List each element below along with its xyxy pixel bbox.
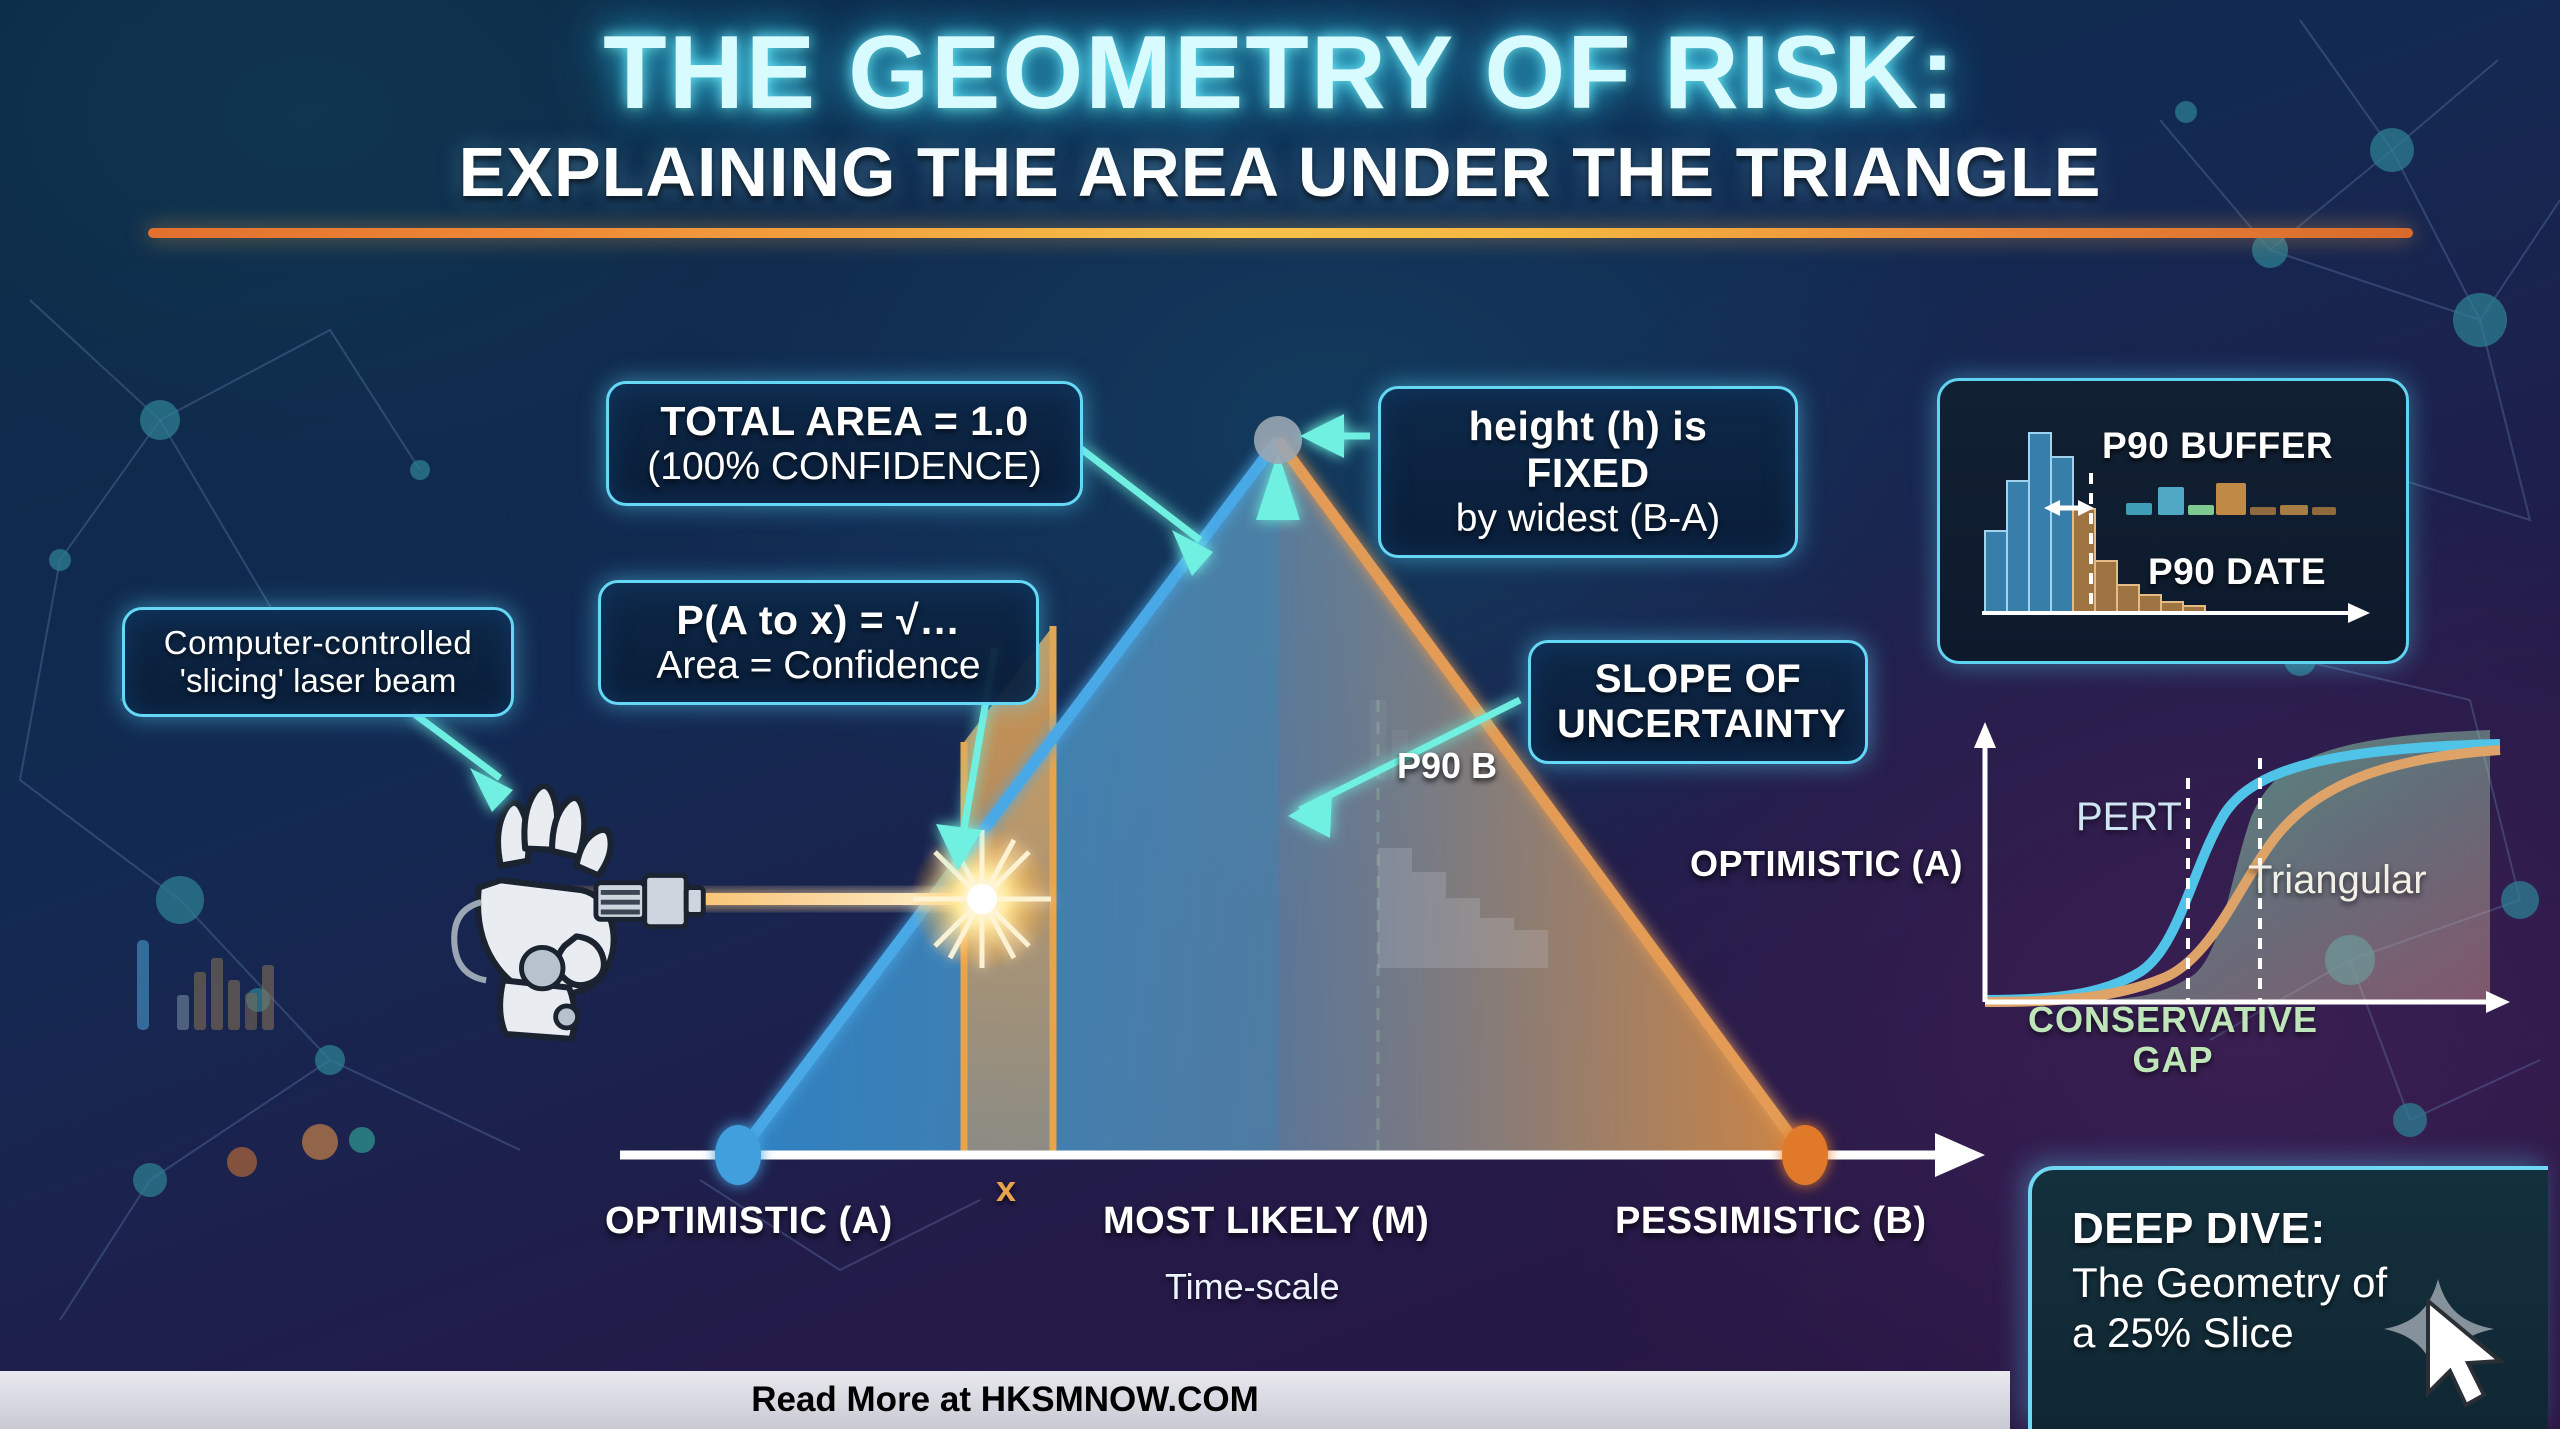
deep-dive-card[interactable]: DEEP DIVE: The Geometry of a 25% Slice bbox=[2028, 1166, 2548, 1429]
mouse-cursor-icon bbox=[2376, 1261, 2526, 1411]
p90-panel: P90 BUFFER P90 DATE bbox=[1937, 378, 2409, 664]
p90-legend-bars bbox=[2126, 483, 2336, 515]
axis-label-pessimistic: PESSIMISTIC (B) bbox=[1615, 1200, 1927, 1243]
p90-buffer-label: P90 BUFFER bbox=[2102, 425, 2333, 467]
axis-label-x: x bbox=[996, 1168, 1016, 1210]
cdf-optimistic-label: OPTIMISTIC (A) bbox=[1690, 843, 1963, 885]
p90-date-label: P90 DATE bbox=[2148, 551, 2326, 593]
callout-total-area-line1: TOTAL AREA = 1.0 bbox=[635, 398, 1054, 445]
callout-laser-line2: 'slicing' laser beam bbox=[151, 662, 485, 700]
conservative-gap-label: CONSERVATIVE GAP bbox=[1963, 1000, 2383, 1079]
footer-text: Read More at HKSMNOW.COM bbox=[751, 1380, 1259, 1420]
deep-dive-subtitle-line1: The Geometry of bbox=[2072, 1259, 2387, 1306]
callout-slope-line2: UNCERTAINTY bbox=[1557, 702, 1839, 747]
robot-hand-icon bbox=[454, 786, 703, 1039]
axis-caption: Time-scale bbox=[1165, 1266, 1340, 1308]
infographic-canvas: THE GEOMETRY OF RISK: EXPLAINING THE ARE… bbox=[0, 0, 2560, 1429]
callout-laser-line1: Computer-controlled bbox=[151, 624, 485, 662]
callout-probability-formula: P(A to x) = √… bbox=[627, 597, 1010, 644]
callout-height-line2: by widest (B-A) bbox=[1407, 497, 1769, 541]
pert-label: PERT bbox=[2076, 795, 2182, 840]
p90-bars-before bbox=[1985, 433, 2073, 613]
axis-label-optimistic: OPTIMISTIC (A) bbox=[605, 1200, 893, 1243]
callout-height-line1: height (h) is FIXED bbox=[1407, 403, 1769, 497]
deep-dive-title: DEEP DIVE: bbox=[2072, 1204, 2548, 1254]
callout-height-fixed: height (h) is FIXED by widest (B-A) bbox=[1378, 386, 1798, 558]
callout-probability: P(A to x) = √… Area = Confidence bbox=[598, 580, 1039, 705]
axis-label-most-likely: MOST LIKELY (M) bbox=[1103, 1200, 1429, 1243]
callout-slope-line1: SLOPE OF bbox=[1557, 657, 1839, 702]
conservative-gap-line2: GAP bbox=[2132, 1039, 2213, 1080]
callout-laser: Computer-controlled 'slicing' laser beam bbox=[122, 607, 514, 717]
p90-b-label: P90 B bbox=[1397, 745, 1497, 787]
callout-total-area-line2: (100% CONFIDENCE) bbox=[635, 445, 1054, 489]
callout-slope-uncertainty: SLOPE OF UNCERTAINTY bbox=[1528, 640, 1868, 764]
footer-bar: Read More at HKSMNOW.COM bbox=[0, 1371, 2010, 1429]
p90-histogram bbox=[1940, 381, 2412, 667]
deep-dive-subtitle-line2: a 25% Slice bbox=[2072, 1309, 2294, 1356]
callout-probability-caption: Area = Confidence bbox=[627, 644, 1010, 688]
conservative-gap-line1: CONSERVATIVE bbox=[2028, 999, 2318, 1040]
triangular-label: Triangular bbox=[2248, 858, 2427, 903]
callout-total-area: TOTAL AREA = 1.0 (100% CONFIDENCE) bbox=[606, 381, 1083, 506]
